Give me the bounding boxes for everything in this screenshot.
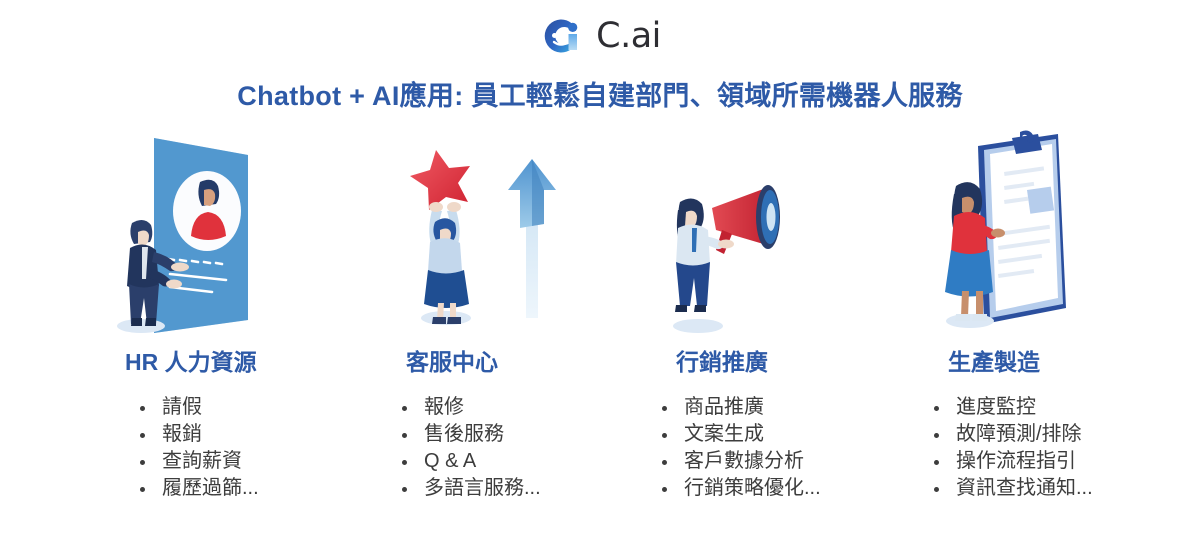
list-item: 資訊查找通知... <box>930 475 1168 502</box>
brand-header: C.ai <box>0 14 1200 58</box>
feature-list: 請假 報銷 查詢薪資 履歷過篩... <box>108 394 368 502</box>
list-item: 報銷 <box>136 421 368 448</box>
list-item: 行銷策略優化... <box>658 475 898 502</box>
column-heading: 生產製造 <box>908 340 1168 384</box>
category-column-customer-service: 客服中心 報修 售後服務 Q & A 多語言服務... <box>376 128 636 548</box>
feature-list: 報修 售後服務 Q & A 多語言服務... <box>376 394 636 502</box>
list-item: 故障預測/排除 <box>930 421 1168 448</box>
cai-chatbot-logo-icon <box>539 14 583 58</box>
list-item: 商品推廣 <box>658 394 898 421</box>
category-columns: HR 人力資源 請假 報銷 查詢薪資 履歷過篩... <box>0 128 1200 548</box>
woman-with-megaphone-illustration <box>638 128 898 340</box>
woman-presenting-profile-screen-illustration <box>108 128 368 340</box>
list-item: 查詢薪資 <box>136 448 368 475</box>
feature-list: 商品推廣 文案生成 客戶數據分析 行銷策略優化... <box>638 394 898 502</box>
list-item: 報修 <box>398 394 636 421</box>
slide-root: C.ai Chatbot + AI應用: 員工輕鬆自建部門、領域所需機器人服務 <box>0 0 1200 555</box>
list-item: Q & A <box>398 448 636 475</box>
list-item: 多語言服務... <box>398 475 636 502</box>
woman-holding-star-with-growth-arrow-illustration <box>376 128 636 340</box>
list-item: 文案生成 <box>658 421 898 448</box>
list-item: 履歷過篩... <box>136 475 368 502</box>
column-heading: HR 人力資源 <box>108 340 368 384</box>
category-column-hr: HR 人力資源 請假 報銷 查詢薪資 履歷過篩... <box>108 128 368 548</box>
list-item: 操作流程指引 <box>930 448 1168 475</box>
feature-list: 進度監控 故障預測/排除 操作流程指引 資訊查找通知... <box>908 394 1168 502</box>
list-item: 進度監控 <box>930 394 1168 421</box>
woman-with-clipboard-document-illustration <box>908 128 1168 340</box>
category-column-marketing: 行銷推廣 商品推廣 文案生成 客戶數據分析 行銷策略優化... <box>638 128 898 548</box>
list-item: 售後服務 <box>398 421 636 448</box>
column-heading: 客服中心 <box>376 340 636 384</box>
list-item: 客戶數據分析 <box>658 448 898 475</box>
list-item: 請假 <box>136 394 368 421</box>
page-title: Chatbot + AI應用: 員工輕鬆自建部門、領域所需機器人服務 <box>0 80 1200 112</box>
category-column-manufacturing: 生產製造 進度監控 故障預測/排除 操作流程指引 資訊查找通知... <box>908 128 1168 548</box>
brand-name: C.ai <box>596 19 661 54</box>
